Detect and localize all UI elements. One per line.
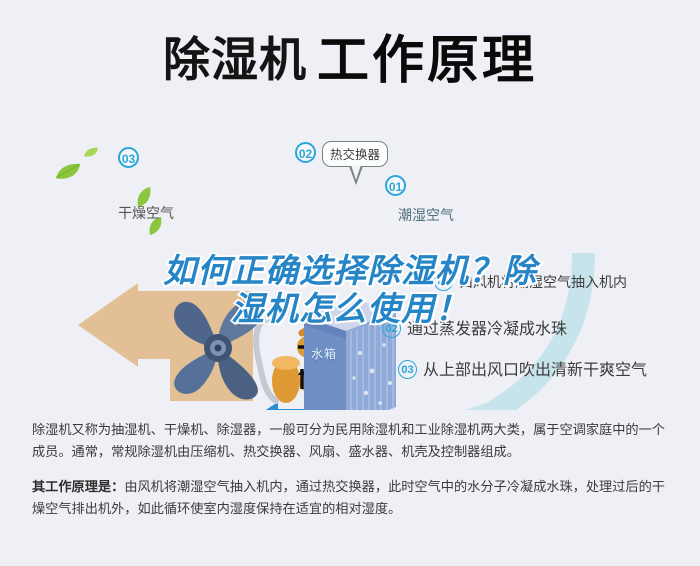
badge-02: 02: [295, 142, 316, 163]
callout-heat-exchanger: 热交换器: [322, 141, 388, 167]
label-humid-air: 潮湿空气: [398, 205, 454, 225]
step-text-01: 由风机将潮湿空气抽入机内: [459, 275, 627, 291]
leaf-icon: [84, 147, 98, 158]
title-part-1: 除湿机: [163, 33, 307, 88]
body-paragraph-2: 其工作原理是：由风机将潮湿空气抽入机内，通过热交换器，此时空气中的水分子冷凝成水…: [32, 477, 672, 521]
step-line-02: 02通过蒸发器冷凝成水珠: [382, 315, 567, 339]
step-line-01: 01由风机将潮湿空气抽入机内: [434, 272, 627, 292]
label-water-tank: 水箱: [311, 345, 337, 362]
badge-03: 03: [118, 147, 139, 168]
page-title: 除湿机工作原理: [0, 18, 700, 93]
title-part-2: 工作原理: [317, 31, 537, 91]
body-paragraph-2-lead: 其工作原理是：: [32, 480, 124, 495]
body-paragraph-1: 除湿机又称为抽湿机、干燥机、除湿器，一般可分为民用除湿机和工业除湿机两大类，属于…: [32, 420, 672, 464]
leaf-icon: [55, 163, 81, 181]
label-dry-air: 干燥空气: [118, 203, 174, 223]
step-badge-03: 03: [398, 360, 417, 379]
step-line-03: 03从上部出风口吹出清新干爽空气: [398, 356, 647, 380]
badge-01: 01: [385, 175, 406, 196]
step-text-02: 通过蒸发器冷凝成水珠: [407, 319, 567, 338]
body-paragraph-2-text: 由风机将潮湿空气抽入机内，通过热交换器，此时空气中的水分子冷凝成水珠，处理过后的…: [32, 480, 665, 517]
dehumidifier-diagram: 03 02 01 干燥空气 潮湿空气 热交换器 01由风机将潮湿空气抽入机内 0…: [0, 125, 700, 410]
heat-exchanger-icon: [290, 283, 420, 410]
body-copy: 除湿机又称为抽湿机、干燥机、除湿器，一般可分为民用除湿机和工业除湿机两大类，属于…: [32, 420, 672, 534]
step-badge-02: 02: [382, 319, 401, 338]
step-badge-01: 01: [434, 272, 453, 291]
step-text-03: 从上部出风口吹出清新干爽空气: [423, 360, 647, 379]
